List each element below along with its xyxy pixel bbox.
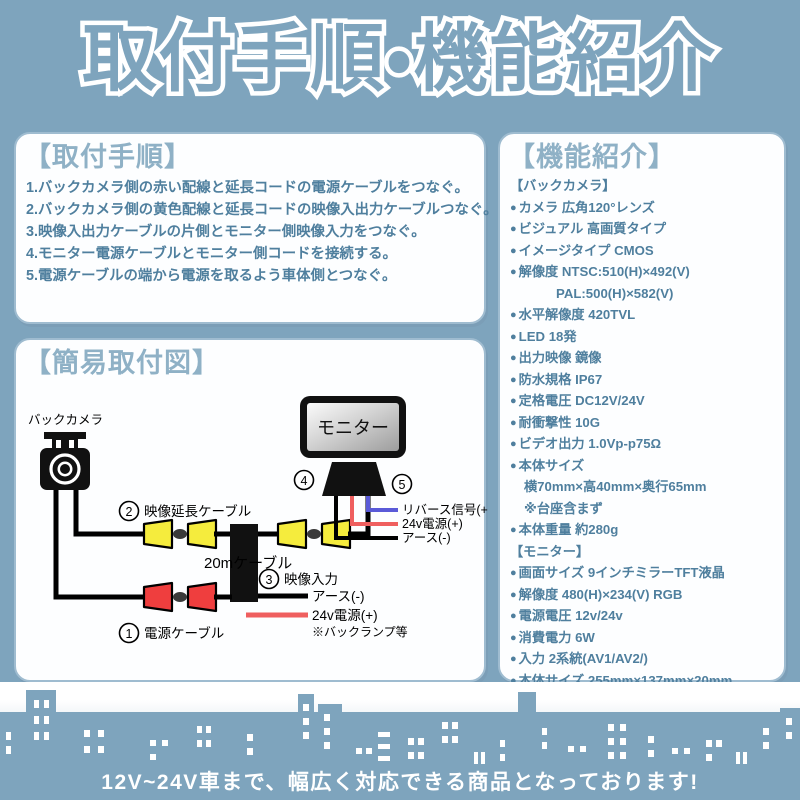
list-item: 出力映像 鏡像 (510, 347, 784, 369)
list-item: 消費電力 6W (510, 627, 784, 649)
callout-1: 1 電源ケーブル (120, 624, 225, 643)
callout-5-number: 5 (399, 478, 406, 492)
callout-4-number: 4 (301, 474, 308, 488)
list-item: PAL:500(H)×582(V) (510, 283, 784, 305)
list-item: 解像度 480(H)×234(V) RGB (510, 584, 784, 606)
list-item: 1.バックカメラ側の赤い配線と延長コードの電源ケーブルをつなぐ。 (26, 177, 484, 199)
list-item: 定格電圧 DC12V/24V (510, 390, 784, 412)
video-connector-pair-left (144, 520, 216, 548)
wiring-diagram: バックカメラ 2 映像延長ケーブル (16, 384, 488, 684)
features-panel: 【機能紹介】 【バックカメラ】 カメラ 広角120°レンズ ビジュアル 高画質タ… (498, 132, 786, 682)
callout-1-number: 1 (126, 627, 133, 641)
camera-label: バックカメラ (28, 413, 103, 427)
list-item: 5.電源ケーブルの端から電源を取るよう車体側とつなぐ。 (26, 265, 484, 287)
camera-group-title: 【バックカメラ】 (510, 175, 784, 197)
list-item: 横70mm×高40mm×奥行65mm (510, 476, 784, 498)
callout-3-label: 映像入力 (284, 572, 338, 587)
installation-steps-list: 1.バックカメラ側の赤い配線と延長コードの電源ケーブルをつなぐ。 2.バックカメ… (16, 175, 484, 287)
installation-steps-panel: 【取付手順】 1.バックカメラ側の赤い配線と延長コードの電源ケーブルをつなぐ。 … (14, 132, 486, 324)
monitor-plug (322, 462, 386, 496)
footer: 12V~24V車まで、幅広く対応できる商品となっております! (0, 682, 800, 800)
list-item: 入力 2系統(AV1/AV2/) (510, 648, 784, 670)
monitor-label: モニター (317, 418, 389, 438)
page-title-bar: 取付手順・機能紹介 (0, 0, 800, 118)
callout-4: 4 (295, 471, 314, 490)
list-item: 防水規格 IP67 (510, 369, 784, 391)
callout-2-label: 映像延長ケーブル (144, 503, 251, 519)
list-item: 4.モニター電源ケーブルとモニター側コードを接続する。 (26, 243, 484, 265)
page-title: 取付手順・機能紹介 (82, 22, 717, 96)
features-heading: 【機能紹介】 (500, 134, 784, 175)
monitor-ground-label: アース(-) (402, 531, 451, 545)
reverse-signal-label: リバース信号(+) (402, 502, 488, 517)
list-item: LED 18発 (510, 326, 784, 348)
camera-spec-list: 【バックカメラ】 カメラ 広角120°レンズ ビジュアル 高画質タイプ イメージ… (500, 175, 784, 541)
list-item: ※台座含まず (510, 498, 784, 520)
callout-3-number: 3 (266, 573, 273, 587)
cable-length-label: 20mケーブル (204, 554, 292, 572)
list-item: 耐衝撃性 10G (510, 412, 784, 434)
wiring-diagram-heading: 【簡易取付図】 (16, 340, 484, 381)
list-item: ビデオ出力 1.0Vp-p75Ω (510, 433, 784, 455)
list-item: 本体重量 約280g (510, 519, 784, 541)
callout-3: 3 映像入力 (260, 570, 339, 589)
list-item: カメラ 広角120°レンズ (510, 197, 784, 219)
camera-24v-label: 24v電源(+) (312, 608, 378, 623)
list-item: 2.バックカメラ側の黄色配線と延長コードの映像入出力ケーブルつなぐ。 (26, 199, 484, 221)
list-item: ビジュアル 高画質タイプ (510, 218, 784, 240)
power-connector-pair (144, 583, 216, 611)
video-connector-pair-right (278, 520, 350, 548)
callout-1-label: 電源ケーブル (144, 625, 224, 641)
city-skyline (0, 682, 800, 772)
wiring-diagram-panel: 【簡易取付図】 バックカメラ 2 映像延長ケーブル (14, 338, 486, 682)
list-item: 画面サイズ 9インチミラーTFT液晶 (510, 562, 784, 584)
list-item: 水平解像度 420TVL (510, 304, 784, 326)
camera-backlamp-note: ※バックランプ等 (312, 625, 408, 639)
reverse-signal-wire (368, 496, 398, 510)
list-item: 電源電圧 12v/24v (510, 605, 784, 627)
callout-2-number: 2 (126, 505, 133, 519)
callout-5: 5 (393, 475, 412, 494)
list-item: 本体サイズ (510, 455, 784, 477)
callout-2: 2 映像延長ケーブル (120, 502, 252, 521)
list-item: 3.映像入出力ケーブルの片側とモニター側映像入力をつなぐ。 (26, 221, 484, 243)
installation-steps-heading: 【取付手順】 (16, 134, 484, 175)
back-camera-icon (40, 432, 90, 490)
footer-caption: 12V~24V車まで、幅広く対応できる商品となっております! (0, 766, 800, 796)
monitor-24v-label: 24v電源(+) (402, 517, 463, 531)
monitor-group-title: 【モニター】 (510, 541, 784, 563)
list-item: イメージタイプ CMOS (510, 240, 784, 262)
list-item: 解像度 NTSC:510(H)×492(V) (510, 261, 784, 283)
monitor-icon: モニター (300, 396, 406, 458)
camera-ground-label: アース(-) (312, 589, 365, 604)
